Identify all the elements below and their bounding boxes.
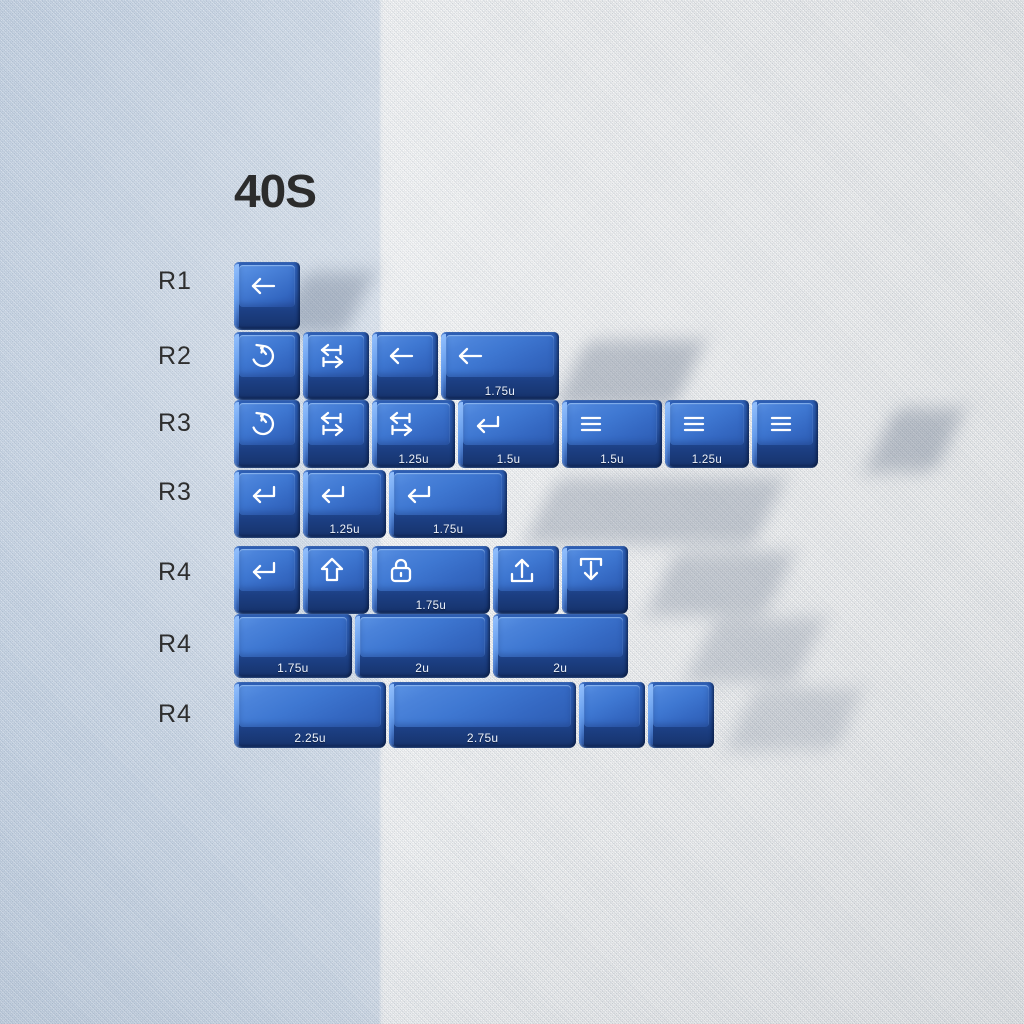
download-arrow-icon — [576, 555, 606, 585]
enter-return-icon — [472, 409, 502, 439]
keycap-top-surface — [308, 335, 364, 377]
keycap-enter-return-1u[interactable] — [234, 546, 300, 614]
keycap-escape-loop-1u[interactable] — [234, 332, 300, 400]
keycap-top-surface — [308, 473, 381, 515]
keycap-top-surface — [463, 403, 554, 445]
keycap-top-surface — [394, 473, 502, 515]
menu-hamburger-icon — [576, 409, 606, 439]
tab-icon — [386, 409, 416, 439]
escape-loop-icon — [248, 341, 278, 371]
keycap-blank-2.25u[interactable]: 2.25u — [234, 682, 386, 748]
keycap-top-surface — [377, 549, 485, 591]
keycap-menu-hamburger-1u[interactable] — [752, 400, 818, 468]
escape-loop-icon — [248, 409, 278, 439]
keycap-top-surface — [377, 403, 450, 445]
enter-return-icon — [317, 479, 347, 509]
keycap-menu-hamburger-1.5u[interactable]: 1.5u — [562, 400, 663, 468]
row-label-4: R4 — [158, 558, 228, 587]
keycap-top-surface — [239, 403, 295, 445]
keycap-size-label: 1.25u — [665, 454, 748, 466]
keycap-backspace-arrow-1.75u[interactable]: 1.75u — [441, 332, 559, 400]
keycap-size-label: 1.5u — [562, 454, 663, 466]
upload-arrow-icon — [507, 555, 537, 585]
page-title: 40S — [234, 168, 316, 214]
keycap-top-surface — [567, 549, 623, 591]
backspace-arrow-icon — [386, 341, 416, 371]
caps-lock-icon — [386, 555, 416, 585]
keycap-shift-arrow-1u[interactable] — [303, 546, 369, 614]
keycap-blank-2.75u[interactable]: 2.75u — [389, 682, 576, 748]
keycap-blank-1.75u[interactable]: 1.75u — [234, 614, 352, 678]
keycap-size-label: 1.75u — [389, 524, 507, 536]
keycap-enter-return-1.75u[interactable]: 1.75u — [389, 470, 507, 538]
keycap-blank-2u[interactable]: 2u — [493, 614, 628, 678]
enter-return-icon — [248, 479, 278, 509]
row-label-6: R4 — [158, 700, 228, 729]
keycap-size-label: 1.25u — [303, 524, 386, 536]
keycap-size-label: 1.5u — [458, 454, 559, 466]
tab-icon — [317, 341, 347, 371]
tab-icon — [317, 409, 347, 439]
keycap-menu-hamburger-1.25u[interactable]: 1.25u — [665, 400, 748, 468]
row-label-2: R3 — [158, 409, 228, 438]
keycap-size-label: 1.75u — [372, 600, 490, 612]
keycap-tab-1u[interactable] — [303, 400, 369, 468]
keycap-download-arrow-1u[interactable] — [562, 546, 628, 614]
backspace-arrow-icon — [248, 271, 278, 301]
keycap-size-label: 2.75u — [389, 731, 576, 745]
row-label-5: R4 — [158, 630, 228, 659]
row-label-3: R3 — [158, 478, 228, 507]
keycap-top-surface — [360, 617, 485, 657]
keycap-blank-2u[interactable]: 2u — [355, 614, 490, 678]
keycap-top-surface — [567, 403, 658, 445]
keycap-top-surface — [239, 549, 295, 591]
keycap-blank-1u[interactable] — [648, 682, 714, 748]
keycap-size-label: 2u — [493, 661, 628, 675]
background-vignette — [0, 0, 1024, 1024]
keycap-top-surface — [498, 549, 554, 591]
keycap-upload-arrow-1u[interactable] — [493, 546, 559, 614]
enter-return-icon — [248, 555, 278, 585]
keycap-enter-return-1.5u[interactable]: 1.5u — [458, 400, 559, 468]
keycap-top-surface — [239, 473, 295, 515]
keycap-top-surface — [584, 685, 640, 727]
keycap-tab-1.25u[interactable]: 1.25u — [372, 400, 455, 468]
keycap-size-label: 2u — [355, 661, 490, 675]
keycap-top-surface — [446, 335, 554, 377]
keycap-top-surface — [239, 335, 295, 377]
enter-return-icon — [403, 479, 433, 509]
keycap-backspace-arrow-1u[interactable] — [234, 262, 300, 330]
keycap-top-surface — [670, 403, 743, 445]
keycap-top-surface — [377, 335, 433, 377]
row-label-0: R1 — [158, 267, 228, 296]
keycap-caps-lock-1.75u[interactable]: 1.75u — [372, 546, 490, 614]
keycap-top-surface — [239, 617, 347, 657]
row-label-1: R2 — [158, 342, 228, 371]
menu-hamburger-icon — [679, 409, 709, 439]
keycap-top-surface — [239, 265, 295, 307]
keycap-backspace-arrow-1u[interactable] — [372, 332, 438, 400]
keycap-blank-1u[interactable] — [579, 682, 645, 748]
keycap-size-label: 1.25u — [372, 454, 455, 466]
keycap-tab-1u[interactable] — [303, 332, 369, 400]
backspace-arrow-icon — [455, 341, 485, 371]
keycap-size-label: 1.75u — [234, 661, 352, 675]
menu-hamburger-icon — [766, 409, 796, 439]
product-photo-stage: 40S R1R2R3R3R4R4R4 1.75u 1.25u1.5u1.5u1.… — [0, 0, 1024, 1024]
shift-arrow-icon — [317, 555, 347, 585]
keycap-top-surface — [239, 685, 381, 727]
keycap-enter-return-1u[interactable] — [234, 470, 300, 538]
keycap-escape-loop-1u[interactable] — [234, 400, 300, 468]
keycap-left-bevel — [752, 402, 757, 465]
keycap-top-surface — [308, 403, 364, 445]
keycap-top-surface — [308, 549, 364, 591]
keycap-size-label: 2.25u — [234, 731, 386, 745]
keycap-top-surface — [757, 403, 813, 445]
keycap-top-surface — [653, 685, 709, 727]
keycap-size-label: 1.75u — [441, 386, 559, 398]
keycap-top-surface — [498, 617, 623, 657]
keycap-top-surface — [394, 685, 571, 727]
keycap-enter-return-1.25u[interactable]: 1.25u — [303, 470, 386, 538]
